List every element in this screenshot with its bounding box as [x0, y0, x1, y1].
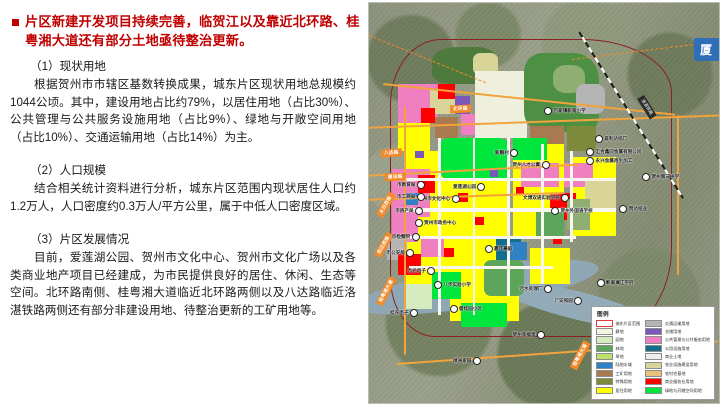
poi-label: 贺达纸业	[629, 206, 647, 212]
poi-marker[interactable]: 市房产局	[395, 207, 423, 215]
legend-swatch	[596, 370, 613, 377]
legend-label: 仓储用地	[665, 329, 681, 334]
legend-swatch	[645, 370, 662, 377]
legend-item: 农业设施建设用地	[645, 362, 710, 369]
legend-label: 城东片区范围	[616, 321, 641, 326]
poi-marker[interactable]: 贺州第三中学	[642, 173, 679, 181]
legend-item: 工矿用地	[596, 370, 640, 377]
poi-dot-icon	[452, 195, 460, 203]
legend-item: 仓储用地	[645, 328, 710, 335]
poi-marker[interactable]: 百家镇新南小学	[544, 107, 586, 115]
poi-marker[interactable]: 贺州人才公寓	[513, 161, 550, 169]
section-title: （2）人口规模	[30, 162, 360, 179]
legend-label: 居住用地	[616, 388, 632, 393]
poi-marker[interactable]: 市公安局	[387, 249, 415, 257]
poi-label: 嘉年豪庭	[494, 246, 512, 252]
poi-label: 新鹏村	[495, 150, 509, 156]
poi-dot-icon	[473, 357, 481, 365]
headline-text: 片区新建开发项目持续完善，临贺江以及靠近北环路、桂粤湘大道还有部分土地亟待整治更…	[25, 12, 360, 50]
legend-swatch	[645, 328, 662, 335]
poi-label: 爱莲湖公园	[453, 184, 476, 190]
poi-label: 碧桂园小区	[459, 306, 482, 312]
poi-marker[interactable]: 绿洲家园	[453, 357, 481, 365]
legend-item: 交通运输用地	[645, 320, 710, 327]
legend-item: 城东片区范围	[596, 320, 640, 327]
legend-title: 图例	[597, 310, 710, 318]
legend-item: 绿地与开敞空间用地	[645, 387, 710, 394]
poi-dot-icon	[406, 249, 414, 257]
poi-dot-icon	[537, 331, 545, 339]
poi-dot-icon	[427, 267, 435, 275]
poi-marker[interactable]: 贺州外国语学校	[551, 207, 593, 215]
poi-marker[interactable]: 广安和园	[555, 297, 583, 305]
legend-item: 林地	[596, 345, 640, 352]
legend-label: 耕地	[616, 329, 624, 334]
section-title: （3）片区发展情况	[30, 231, 360, 248]
poi-dot-icon	[574, 297, 582, 305]
poi-label: 永兴金属再生加工	[596, 158, 633, 164]
poi-label: 市房产局	[395, 208, 413, 214]
legend-swatch	[596, 345, 613, 352]
zoning-parcels	[387, 35, 674, 339]
legend-item: 陆地水域	[596, 362, 640, 369]
poi-dot-icon	[642, 173, 650, 181]
poi-label: 绿洲家园	[453, 358, 471, 364]
legend-swatch	[596, 387, 613, 394]
legend-item: 居住用地	[596, 387, 640, 394]
legend-item: 耕地	[596, 328, 640, 335]
poi-dot-icon	[551, 207, 559, 215]
poi-dot-icon	[544, 285, 552, 293]
land-use-map[interactable]: 北环路 八达路 建设路 太白西路 和达西路 桂粤湘大道 桂粤湘大道 洛湛铁路 百…	[368, 2, 720, 404]
poi-label: 贺州人才公寓	[513, 162, 541, 168]
legend-label: 商业土地	[665, 354, 681, 359]
legend-item: 商业土地	[645, 353, 710, 360]
legend-label: 绿地与开敞空间用地	[665, 388, 702, 393]
poi-marker[interactable]: 嘉年豪庭	[485, 245, 513, 253]
section-development-status: （3）片区发展情况 目前，爱莲湖公园、贺州市文化中心、贺州市文化广场以及各类商业…	[8, 231, 360, 319]
poi-label: 广安和园	[555, 298, 573, 304]
poi-label: 市公安局	[387, 250, 405, 256]
poi-dot-icon	[544, 107, 552, 115]
poi-marker[interactable]: 贺达纸业	[619, 205, 647, 213]
headline-block: 片区新建开发项目持续完善，临贺江以及靠近北环路、桂粤湘大道还有部分土地亟待整治更…	[12, 12, 360, 50]
legend-swatch	[645, 387, 662, 394]
legend-swatch	[645, 345, 662, 352]
legend-swatch	[645, 320, 662, 327]
legend-item: 商业服务业用地	[645, 378, 710, 385]
poi-marker[interactable]: 市工商局	[397, 193, 425, 201]
poi-label: 文博双语实验学校	[523, 195, 560, 201]
legend-item: 公共管理与公共服务用地	[645, 336, 710, 343]
legend-swatch	[645, 378, 662, 385]
poi-dot-icon	[412, 233, 420, 241]
poi-dot-icon	[586, 157, 594, 165]
map-legend: 图例 城东片区范围 耕地 园地	[591, 306, 715, 400]
poi-marker[interactable]: 污水处理厂	[520, 285, 552, 293]
poi-dot-icon	[561, 194, 569, 202]
legend-swatch	[596, 378, 613, 385]
section-body: 结合相关统计资料进行分析，城东片区范围内现状居住人口约1.2万人，人口密度约0.…	[10, 180, 356, 215]
legend-item: 农村宅基地	[645, 370, 710, 377]
legend-label: 草地	[616, 354, 624, 359]
legend-swatch	[596, 320, 613, 327]
legend-label: 公用设施用地	[665, 346, 690, 351]
poi-label: 汇合鑫旧金属有限公司	[596, 149, 642, 155]
poi-marker[interactable]: 森利达纸厂	[595, 135, 627, 143]
road-chip-bada-lu: 八达路	[381, 148, 402, 157]
poi-marker[interactable]: 市教育局	[397, 181, 425, 189]
poi-marker[interactable]: 文博双语实验学校	[523, 194, 569, 202]
poi-marker[interactable]: 碧桂园小区	[450, 305, 482, 313]
poi-label: 桂东电子	[390, 310, 408, 316]
legend-label: 交通运输用地	[665, 321, 690, 326]
poi-dot-icon	[597, 279, 605, 287]
poi-label: 市检察院	[392, 234, 410, 240]
poi-label: 贺州幸福里	[513, 332, 536, 338]
legend-label: 商业服务业用地	[665, 379, 694, 384]
legend-label: 工矿用地	[616, 371, 632, 376]
poi-dot-icon	[417, 193, 425, 201]
legend-label: 公共管理与公共服务用地	[665, 337, 710, 342]
poi-label: 市教育局	[397, 182, 415, 188]
bullet-square-icon	[12, 19, 19, 26]
poi-marker[interactable]: 市检察院	[392, 233, 420, 241]
poi-marker[interactable]: 彰泰澜江学府	[597, 279, 634, 287]
poi-marker[interactable]: 爱莲湖公园	[453, 183, 485, 191]
poi-marker[interactable]: 新鹏村	[495, 149, 518, 157]
section-body: 根据贺州市市辖区基数转换成果，城东片区现状用地总规模约1044公顷。其中，建设用…	[10, 76, 356, 146]
poi-label: 八步实验小学	[443, 282, 471, 288]
section-current-land-use: （1）现状用地 根据贺州市市辖区基数转换成果，城东片区现状用地总规模约1044公…	[8, 58, 360, 146]
poi-label: 贺州第三中学	[652, 174, 680, 180]
poi-label: 贺州市政务中心	[424, 220, 456, 226]
poi-dot-icon	[510, 149, 518, 157]
poi-dot-icon	[485, 245, 493, 253]
legend-column-right: 交通运输用地 仓储用地 公共管理与公共服务用地 公用设施用地	[645, 320, 710, 395]
poi-marker[interactable]: 吉光电子	[408, 267, 436, 275]
legend-label: 农业设施建设用地	[665, 362, 698, 367]
poi-dot-icon	[619, 205, 627, 213]
poi-dot-icon	[415, 219, 423, 227]
poi-dot-icon	[434, 281, 442, 289]
legend-column-left: 城东片区范围 耕地 园地 林地	[596, 320, 640, 395]
legend-label: 园地	[616, 337, 624, 342]
legend-swatch	[596, 328, 613, 335]
legend-swatch	[645, 362, 662, 369]
text-column: 片区新建开发项目持续完善，临贺江以及靠近北环路、桂粤湘大道还有部分土地亟待整治更…	[0, 0, 366, 406]
legend-swatch	[645, 336, 662, 343]
poi-label: 污水处理厂	[520, 286, 543, 292]
poi-label: 吉光电子	[408, 268, 426, 274]
slide-canvas: 片区新建开发项目持续完善，临贺江以及靠近北环路、桂粤湘大道还有部分土地亟待整治更…	[0, 0, 720, 406]
legend-label: 特殊用地	[616, 379, 632, 384]
poi-marker[interactable]: 贺州市政务中心	[415, 219, 457, 227]
poi-dot-icon	[586, 148, 594, 156]
blue-place-tag: 厦	[694, 38, 719, 61]
legend-swatch	[596, 362, 613, 369]
poi-label: 森利达纸厂	[604, 136, 627, 142]
poi-label: 百家镇新南小学	[554, 108, 586, 114]
poi-label: 贺州外国语学校	[561, 208, 593, 214]
section-body: 目前，爱莲湖公园、贺州市文化中心、贺州市文化广场以及各类商业地产项目已经建成，为…	[10, 249, 356, 319]
legend-item: 公用设施用地	[645, 345, 710, 352]
poi-dot-icon	[542, 161, 550, 169]
poi-dot-icon	[477, 183, 485, 191]
poi-dot-icon	[415, 207, 423, 215]
spacer	[8, 150, 360, 162]
legend-item: 特殊用地	[596, 378, 640, 385]
poi-marker[interactable]: 贺州幸福里	[513, 331, 545, 339]
legend-label: 陆地水域	[616, 362, 632, 367]
legend-label: 林地	[616, 346, 624, 351]
poi-marker[interactable]: 八步实验小学	[434, 281, 471, 289]
legend-swatch	[645, 353, 662, 360]
poi-dot-icon	[595, 135, 603, 143]
poi-dot-icon	[450, 305, 458, 313]
section-population-scale: （2）人口规模 结合相关统计资料进行分析，城东片区范围内现状居住人口约1.2万人…	[8, 162, 360, 215]
road-chip-beihuan-lu: 北环路	[449, 104, 470, 113]
poi-marker[interactable]: 汇合鑫旧金属有限公司	[586, 148, 641, 156]
poi-label: 彰泰澜江学府	[606, 280, 634, 286]
poi-marker[interactable]: 永兴金属再生加工	[586, 157, 632, 165]
poi-dot-icon	[417, 181, 425, 189]
section-title: （1）现状用地	[30, 58, 360, 75]
legend-label: 农村宅基地	[665, 371, 685, 376]
spacer	[8, 219, 360, 231]
legend-swatch	[596, 336, 613, 343]
legend-swatch	[596, 353, 613, 360]
poi-label: 市工商局	[397, 194, 415, 200]
poi-marker[interactable]: 桂东电子	[390, 309, 418, 317]
road-line	[404, 107, 406, 355]
poi-dot-icon	[410, 309, 418, 317]
legend-item: 园地	[596, 336, 640, 343]
legend-item: 草地	[596, 353, 640, 360]
